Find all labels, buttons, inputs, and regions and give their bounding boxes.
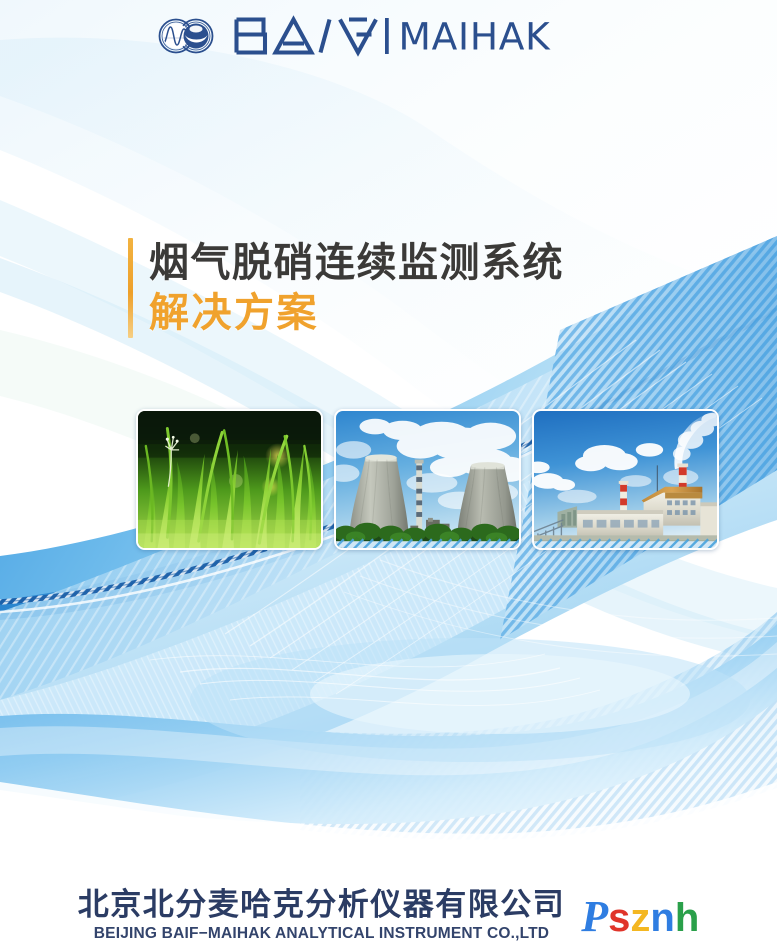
cover-title-block: 烟气脱硝连续监测系统 解决方案	[128, 238, 564, 338]
brochure-cover: MAIHAK 烟气脱硝连续监测系统 解决方案	[0, 0, 777, 950]
page-subtitle: 解决方案	[149, 288, 564, 338]
baif-maihak-logo-mark	[158, 12, 216, 60]
watermark-letter-h: h	[675, 896, 699, 940]
photo-strip	[136, 409, 719, 550]
company-name-en: BEIJING BAIF−MAIHAK ANALYTICAL INSTRUMEN…	[78, 924, 566, 944]
photo-green-grass	[136, 409, 323, 550]
watermark-letter-n: n	[650, 896, 674, 940]
brand-header: MAIHAK	[0, 0, 777, 72]
company-identity: 北京北分麦哈克分析仪器有限公司 BEIJING BAIF−MAIHAK ANAL…	[78, 886, 566, 944]
footer: 北京北分麦哈克分析仪器有限公司 BEIJING BAIF−MAIHAK ANAL…	[0, 886, 777, 944]
watermark-letter-P: P	[581, 892, 608, 941]
photo-cooling-towers	[334, 409, 521, 550]
watermark-letter-z: z	[630, 896, 650, 940]
page-title: 烟气脱硝连续监测系统	[149, 239, 564, 288]
photo-power-plant	[532, 409, 719, 550]
watermark-letter-s: s	[608, 896, 630, 940]
logo-wordmark: MAIHAK	[229, 15, 619, 57]
psznh-watermark: Psznh	[581, 896, 699, 944]
title-accent-rule	[128, 238, 133, 338]
svg-text:MAIHAK: MAIHAK	[399, 15, 552, 57]
company-name-cn: 北京北分麦哈克分析仪器有限公司	[78, 886, 566, 924]
